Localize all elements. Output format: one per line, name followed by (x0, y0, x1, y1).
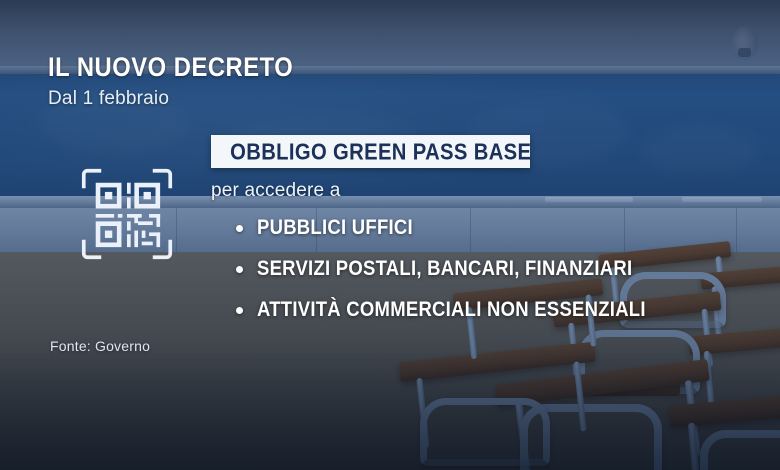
infographic-card: IL NUOVO DECRETO Dal 1 febbraio (0, 0, 780, 470)
banner-label: OBBLIGO GREEN PASS BASE (230, 138, 511, 165)
page-title: IL NUOVO DECRETO (48, 52, 293, 83)
content-layer: IL NUOVO DECRETO Dal 1 febbraio (0, 0, 780, 470)
subtitle: Dal 1 febbraio (48, 88, 169, 110)
bullet-dot-icon (236, 266, 243, 273)
list-item: SERVIZI POSTALI, BANCARI, FINANZIARI (236, 257, 699, 281)
source-attribution: Fonte: Governo (50, 338, 150, 354)
list-item-label: SERVIZI POSTALI, BANCARI, FINANZIARI (257, 257, 632, 281)
list-item: ATTIVITÀ COMMERCIALI NON ESSENZIALI (236, 298, 699, 322)
list-item-label: ATTIVITÀ COMMERCIALI NON ESSENZIALI (257, 298, 646, 322)
banner: OBBLIGO GREEN PASS BASE (211, 135, 530, 168)
bullet-dot-icon (236, 307, 243, 314)
bullet-list: PUBBLICI UFFICI SERVIZI POSTALI, BANCARI… (236, 216, 699, 339)
bullet-dot-icon (236, 225, 243, 232)
qr-code-icon (80, 168, 174, 260)
lead-text: per accedere a (211, 180, 341, 202)
list-item-label: PUBBLICI UFFICI (257, 216, 413, 240)
list-item: PUBBLICI UFFICI (236, 216, 699, 240)
